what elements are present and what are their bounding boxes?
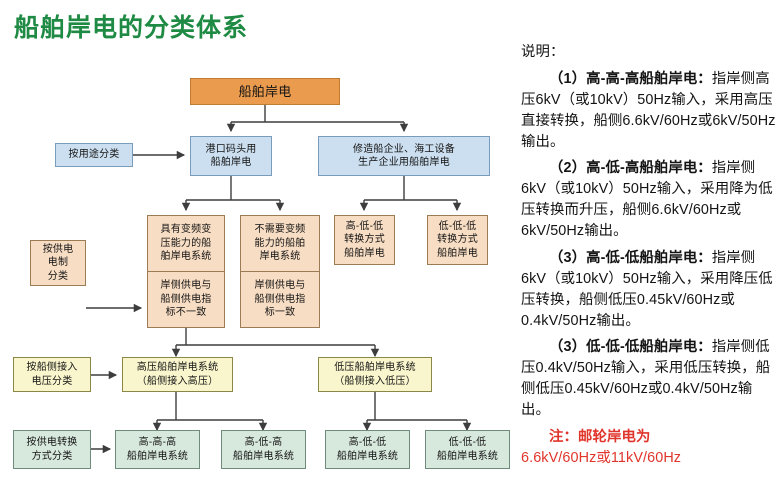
note-cruise-ship-value: 6.6kV/60Hz或11kV/60Hz — [521, 450, 681, 466]
node-supply-high-low-low[interactable]: 高-低-低 转换方式 船舶岸电 — [334, 215, 395, 265]
node-criterion-by-ship-voltage[interactable]: 按船侧接入 电压分类 — [13, 357, 91, 392]
node-supply-with-converter-sub2: 船侧供电指 — [161, 293, 212, 307]
note-item-2-label: （2）高-低-高船舶岸电： — [549, 160, 712, 176]
node-use-port[interactable]: 港口码头用 船舶岸电 — [190, 136, 272, 176]
node-supply-with-converter-line2: 压能力的船 — [161, 237, 212, 251]
node-criterion-by-conversion-line1: 按供电转换 — [27, 436, 78, 450]
node-supply-low-low-low-line3: 船舶岸电 — [437, 247, 478, 261]
node-supply-with-converter-title: 具有变频变 压能力的船 舶岸电系统 — [148, 216, 224, 272]
note-item-4-label: （3）低-低-低船舶岸电： — [549, 339, 712, 355]
node-conversion-low-low-low[interactable]: 低-低-低 船舶岸电系统 — [425, 430, 510, 469]
node-criterion-by-conversion-line2: 方式分类 — [32, 450, 73, 464]
node-voltage-low-line1: 低压船舶岸电系统 — [334, 361, 416, 375]
node-criterion-by-supply-system-line1: 按供电 — [43, 243, 74, 257]
node-use-port-line1: 港口码头用 — [206, 143, 257, 157]
explanation-panel: 说明： （1）高-高-高船舶岸电：指岸侧高压6kV（或10kV）50Hz输入，采… — [521, 42, 777, 475]
note-item-2: （2）高-低-高船舶岸电：指岸侧6kV（或10kV）50Hz输入，采用降为低压转… — [521, 158, 777, 242]
node-conversion-high-low-low-line2: 船舶岸电系统 — [337, 450, 398, 464]
node-root[interactable]: 船舶岸电 — [190, 78, 340, 105]
note-cruise-ship-label: 注：邮轮岸电为 — [549, 429, 650, 445]
node-voltage-high[interactable]: 高压船舶岸电系统 （船侧接入高压） — [122, 357, 233, 392]
node-supply-with-converter-sub3: 标不一致 — [166, 306, 207, 320]
note-cruise-ship: 注：邮轮岸电为6.6kV/60Hz或11kV/60Hz — [521, 427, 777, 469]
node-supply-low-low-low-line1: 低-低-低 — [439, 220, 477, 234]
node-supply-with-converter-sub1: 岸侧供电与 — [161, 279, 212, 293]
node-supply-with-converter-line3: 舶岸电系统 — [161, 250, 212, 264]
node-supply-without-converter-sub2: 船侧供电指 — [255, 293, 306, 307]
node-voltage-low-line2: （船侧接入低压） — [334, 375, 416, 389]
node-use-shipyard[interactable]: 修造船企业、海工设备 生产企业用船舶岸电 — [318, 136, 490, 176]
node-supply-without-converter-sub3: 标一致 — [265, 306, 296, 320]
node-supply-high-low-low-line2: 转换方式 — [344, 233, 385, 247]
node-conversion-high-low-high-line2: 船舶岸电系统 — [233, 450, 294, 464]
node-conversion-low-low-low-line2: 船舶岸电系统 — [437, 450, 498, 464]
page-title: 船舶岸电的分类体系 — [14, 8, 248, 44]
node-conversion-high-low-high-line1: 高-低-高 — [245, 436, 283, 450]
node-criterion-by-use-line1: 按用途分类 — [69, 148, 120, 162]
node-supply-without-converter-title: 不需要变频 能力的船舶 岸电系统 — [241, 216, 319, 272]
node-use-port-line2: 船舶岸电 — [211, 156, 252, 170]
node-criterion-by-supply-system[interactable]: 按供电 电制 分类 — [30, 240, 86, 286]
notes-lead: 说明： — [521, 42, 777, 63]
note-item-3: （3）高-低-低船舶岸电：指岸侧6kV（或10kV）50Hz输入，采用降压低压转… — [521, 248, 777, 332]
node-supply-without-converter-line2: 能力的船舶 — [255, 237, 306, 251]
node-criterion-by-use[interactable]: 按用途分类 — [55, 143, 133, 167]
node-supply-without-converter-line3: 岸电系统 — [260, 250, 301, 264]
node-supply-high-low-low-line1: 高-低-低 — [346, 220, 384, 234]
node-conversion-high-high-high-line1: 高-高-高 — [139, 436, 177, 450]
node-use-shipyard-line1: 修造船企业、海工设备 — [353, 143, 455, 157]
node-supply-with-converter-line1: 具有变频变 — [161, 223, 212, 237]
node-conversion-high-low-low-line1: 高-低-低 — [349, 436, 387, 450]
node-supply-with-converter[interactable]: 具有变频变 压能力的船 舶岸电系统 岸侧供电与 船侧供电指 标不一致 — [147, 215, 225, 328]
node-voltage-high-line1: 高压船舶岸电系统 — [137, 361, 219, 375]
node-supply-low-low-low[interactable]: 低-低-低 转换方式 船舶岸电 — [427, 215, 488, 265]
node-conversion-high-low-low[interactable]: 高-低-低 船舶岸电系统 — [325, 430, 410, 469]
node-conversion-low-low-low-line1: 低-低-低 — [449, 436, 487, 450]
node-supply-without-converter-line1: 不需要变频 — [255, 223, 306, 237]
node-conversion-high-high-high[interactable]: 高-高-高 船舶岸电系统 — [115, 430, 200, 469]
node-use-shipyard-line2: 生产企业用船舶岸电 — [358, 156, 450, 170]
node-supply-without-converter[interactable]: 不需要变频 能力的船舶 岸电系统 岸侧供电与 船侧供电指 标一致 — [240, 215, 320, 328]
node-supply-without-converter-detail: 岸侧供电与 船侧供电指 标一致 — [241, 272, 319, 327]
node-criterion-by-supply-system-line2: 电制 — [48, 256, 68, 270]
node-supply-with-converter-detail: 岸侧供电与 船侧供电指 标不一致 — [148, 272, 224, 327]
node-criterion-by-ship-voltage-line2: 电压分类 — [32, 375, 73, 389]
node-criterion-by-supply-system-line3: 分类 — [48, 270, 68, 284]
node-supply-without-converter-sub1: 岸侧供电与 — [255, 279, 306, 293]
note-item-1-label: （1）高-高-高船舶岸电： — [549, 71, 712, 87]
note-item-1: （1）高-高-高船舶岸电：指岸侧高压6kV（或10kV）50Hz输入，采用高压直… — [521, 69, 777, 153]
classification-flowchart: 船舶岸电 按用途分类 港口码头用 船舶岸电 修造船企业、海工设备 生产企业用船舶… — [0, 46, 515, 504]
note-item-4: （3）低-低-低船舶岸电：指岸侧低压0.4kV/50Hz输入，采用低压转换，船侧… — [521, 337, 777, 421]
node-root-line1: 船舶岸电 — [239, 83, 292, 101]
node-conversion-high-high-high-line2: 船舶岸电系统 — [127, 450, 188, 464]
node-criterion-by-conversion[interactable]: 按供电转换 方式分类 — [13, 430, 91, 469]
node-conversion-high-low-high[interactable]: 高-低-高 船舶岸电系统 — [221, 430, 306, 469]
node-voltage-low[interactable]: 低压船舶岸电系统 （船侧接入低压） — [318, 357, 432, 392]
node-supply-low-low-low-line2: 转换方式 — [437, 233, 478, 247]
node-criterion-by-ship-voltage-line1: 按船侧接入 — [27, 361, 78, 375]
node-supply-high-low-low-line3: 船舶岸电 — [344, 247, 385, 261]
node-voltage-high-line2: （船侧接入高压） — [137, 375, 219, 389]
note-item-3-label: （3）高-低-低船舶岸电： — [549, 250, 712, 266]
